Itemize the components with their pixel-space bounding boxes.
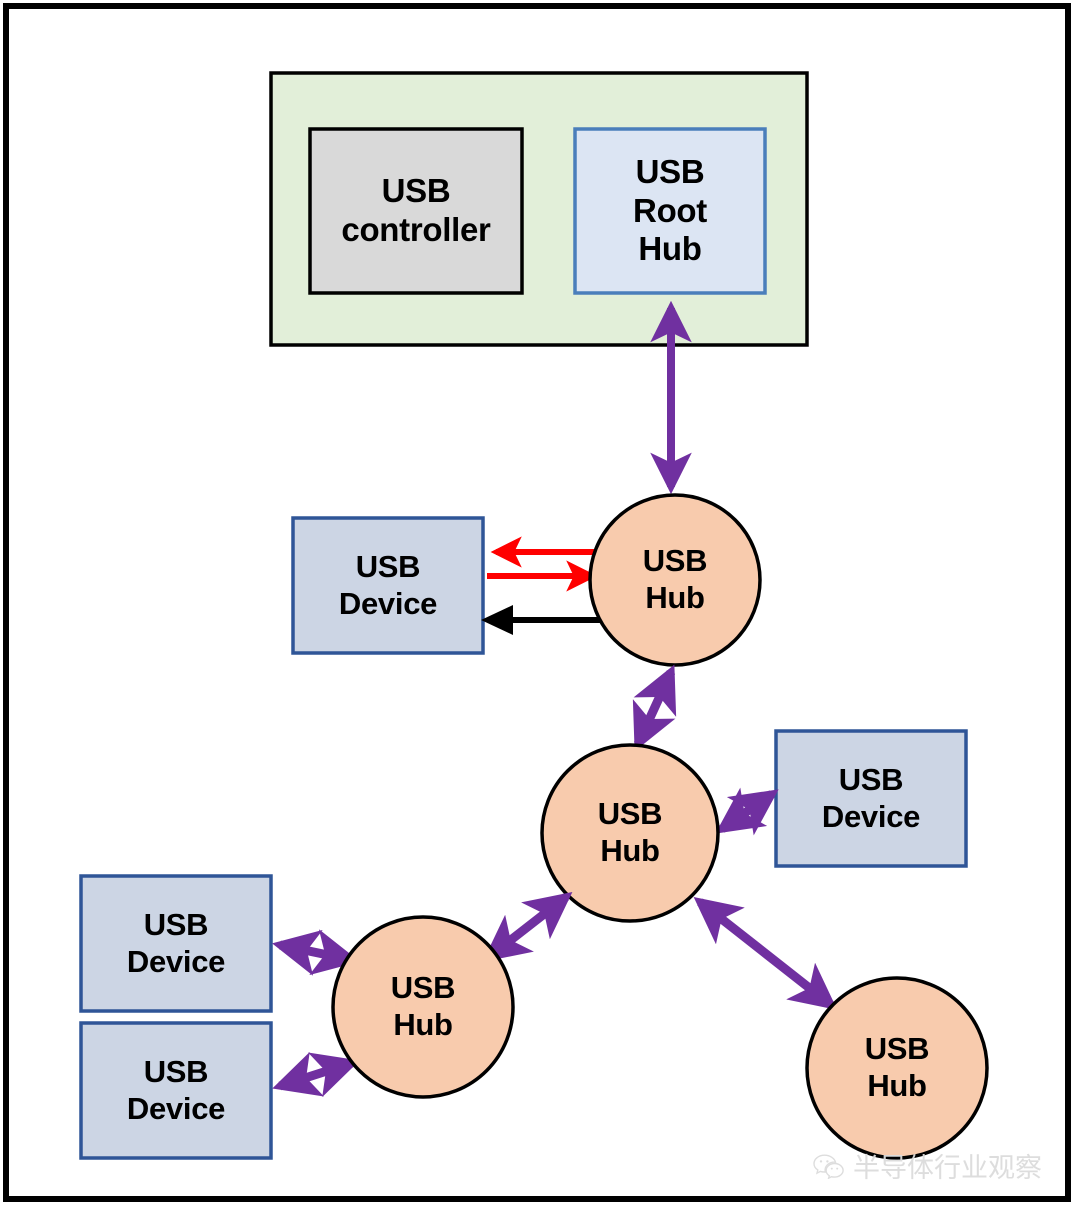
usb-device-box-2[interactable] — [776, 731, 966, 866]
edge-hub2-to-device2 — [722, 794, 772, 829]
watermark: 半导体行业观察 — [812, 1146, 1042, 1185]
usb-hub-circle-2[interactable] — [542, 745, 718, 921]
edge-hub3-to-device3 — [280, 945, 352, 960]
edge-hub2-to-hub3 — [489, 897, 566, 957]
edge-hub1-device1-black-head — [481, 605, 513, 635]
usb-hub-circle-3[interactable] — [333, 917, 513, 1097]
usb-device-box-3[interactable] — [81, 876, 271, 1011]
diagram-canvas: USB controller USB Root Hub USB Device U… — [0, 0, 1080, 1211]
edge-hub2-to-hub4 — [700, 902, 831, 1005]
usb-controller-box[interactable] — [310, 129, 522, 293]
diagram-graphics — [0, 0, 1080, 1211]
usb-hub-circle-4[interactable] — [807, 978, 987, 1158]
usb-hub-circle-1[interactable] — [590, 495, 760, 665]
usb-device-box-4[interactable] — [81, 1023, 271, 1158]
wechat-icon — [812, 1153, 846, 1179]
edge-hub3-to-device4 — [280, 1063, 352, 1086]
watermark-text: 半导体行业观察 — [853, 1146, 1042, 1185]
usb-root-hub-box[interactable] — [575, 129, 765, 293]
edge-hub1-to-hub2 — [638, 672, 671, 744]
usb-device-box-1[interactable] — [293, 518, 483, 653]
